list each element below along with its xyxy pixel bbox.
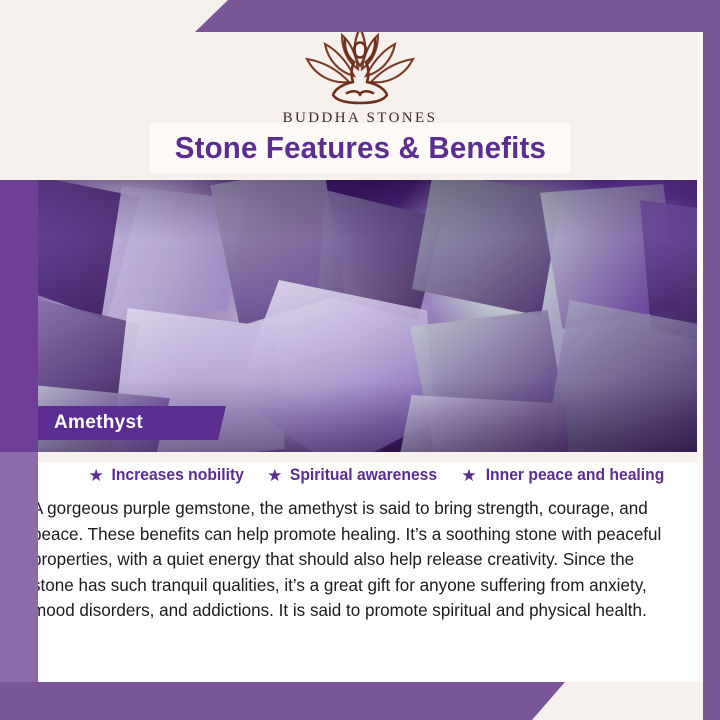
benefit-item: ★ Increases nobility: [88, 466, 247, 485]
frame-bottom-band: [0, 682, 565, 720]
page-title-band: Stone Features & Benefits: [150, 123, 570, 173]
brand-logo: BUDDHA STONES: [0, 22, 720, 127]
infographic-page: BUDDHA STONES Stone Features & Benefits …: [0, 0, 720, 720]
benefit-label: Spiritual awareness: [290, 466, 437, 485]
stone-name-banner: Amethyst: [14, 406, 226, 440]
benefit-label: Inner peace and healing: [485, 466, 664, 485]
benefit-item: ★ Spiritual awareness: [267, 466, 441, 485]
benefits-list: ★ Increases nobility ★ Spiritual awarene…: [38, 466, 711, 485]
stone-description: A gorgeous purple gemstone, the amethyst…: [32, 496, 672, 624]
page-title: Stone Features & Benefits: [174, 130, 545, 166]
benefit-item: ★ Inner peace and healing: [461, 466, 668, 485]
frame-right-border: [703, 0, 720, 720]
left-accent-strip-lower: [0, 452, 38, 682]
star-icon: ★: [88, 467, 103, 484]
content-top-spacer: [38, 452, 703, 462]
content-section: ★ Increases nobility ★ Spiritual awarene…: [38, 452, 703, 682]
frame-top-band: [195, 0, 720, 32]
star-icon: ★: [267, 467, 282, 484]
star-icon: ★: [461, 467, 476, 484]
benefit-label: Increases nobility: [111, 466, 243, 485]
lotus-meditation-figure-icon: [285, 22, 435, 108]
